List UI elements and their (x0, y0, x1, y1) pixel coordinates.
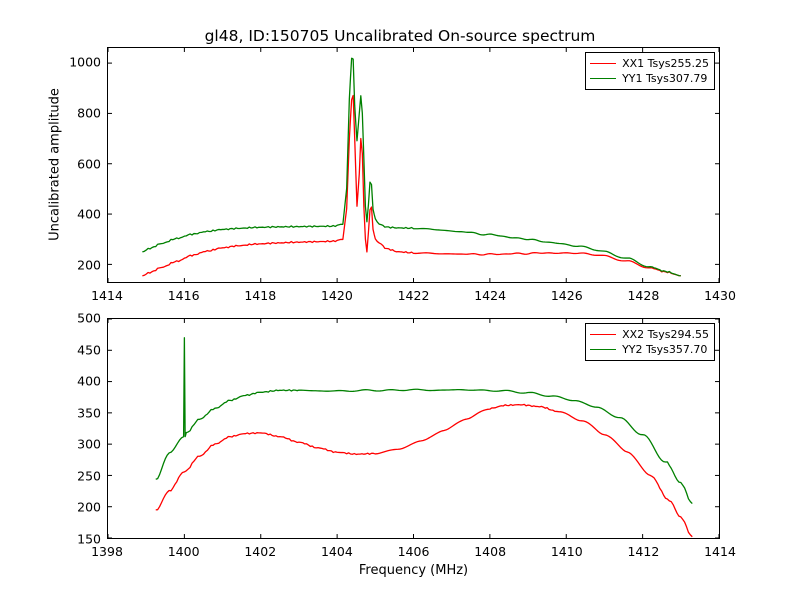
legend-item: YY1 Tsys307.79 (590, 71, 709, 86)
x-tick-label: 1414 (91, 288, 123, 303)
plot-panel-bottom: XX2 Tsys294.55 YY2 Tsys357.70 (107, 318, 720, 539)
x-tick-label: 1406 (398, 544, 430, 559)
legend-swatch-green-icon (590, 78, 616, 79)
y-tick-label: 150 (49, 532, 101, 547)
x-tick-label: 1412 (627, 544, 659, 559)
x-tick-label: 1408 (474, 544, 506, 559)
y-tick-label: 250 (49, 468, 101, 483)
legend-bottom: XX2 Tsys294.55 YY2 Tsys357.70 (585, 323, 715, 361)
series-line (142, 58, 680, 275)
x-axis-label-bottom: Frequency (MHz) (107, 563, 720, 578)
y-tick-label: 350 (49, 405, 101, 420)
y-tick-label: 400 (49, 374, 101, 389)
x-tick-label: 1428 (627, 288, 659, 303)
series-line (156, 404, 693, 536)
x-tick-label: 1426 (551, 288, 583, 303)
legend-item: YY2 Tsys357.70 (590, 342, 709, 357)
y-tick-label: 400 (49, 207, 101, 222)
y-tick-label: 800 (49, 105, 101, 120)
x-tick-label: 1420 (321, 288, 353, 303)
x-tick-label: 1422 (398, 288, 430, 303)
legend-swatch-green-icon (590, 349, 616, 350)
legend-label: YY2 Tsys357.70 (622, 342, 707, 357)
x-tick-label: 1418 (244, 288, 276, 303)
y-tick-label: 500 (49, 311, 101, 326)
y-tick-label: 200 (49, 258, 101, 273)
x-tick-label: 1400 (168, 544, 200, 559)
legend-label: YY1 Tsys307.79 (622, 71, 707, 86)
plot-panel-top: XX1 Tsys255.25 YY1 Tsys307.79 (107, 47, 720, 283)
x-tick-label: 1414 (704, 544, 736, 559)
legend-item: XX1 Tsys255.25 (590, 56, 709, 71)
series-line (156, 338, 693, 504)
y-tick-label: 300 (49, 437, 101, 452)
legend-top: XX1 Tsys255.25 YY1 Tsys307.79 (585, 52, 715, 90)
legend-swatch-red-icon (590, 63, 616, 64)
x-tick-label: 1410 (551, 544, 583, 559)
x-tick-label: 1430 (704, 288, 736, 303)
series-line (142, 96, 680, 276)
y-tick-label: 450 (49, 342, 101, 357)
legend-swatch-red-icon (590, 334, 616, 335)
x-tick-label: 1424 (474, 288, 506, 303)
x-tick-label: 1404 (321, 544, 353, 559)
y-tick-label: 600 (49, 156, 101, 171)
x-tick-label: 1416 (168, 288, 200, 303)
page-title: gl48, ID:150705 Uncalibrated On-source s… (0, 27, 800, 45)
legend-item: XX2 Tsys294.55 (590, 327, 709, 342)
x-tick-label: 1402 (244, 544, 276, 559)
legend-label: XX2 Tsys294.55 (622, 327, 709, 342)
y-tick-label: 1000 (49, 55, 101, 70)
figure: gl48, ID:150705 Uncalibrated On-source s… (0, 0, 800, 600)
legend-label: XX1 Tsys255.25 (622, 56, 709, 71)
y-tick-label: 200 (49, 500, 101, 515)
